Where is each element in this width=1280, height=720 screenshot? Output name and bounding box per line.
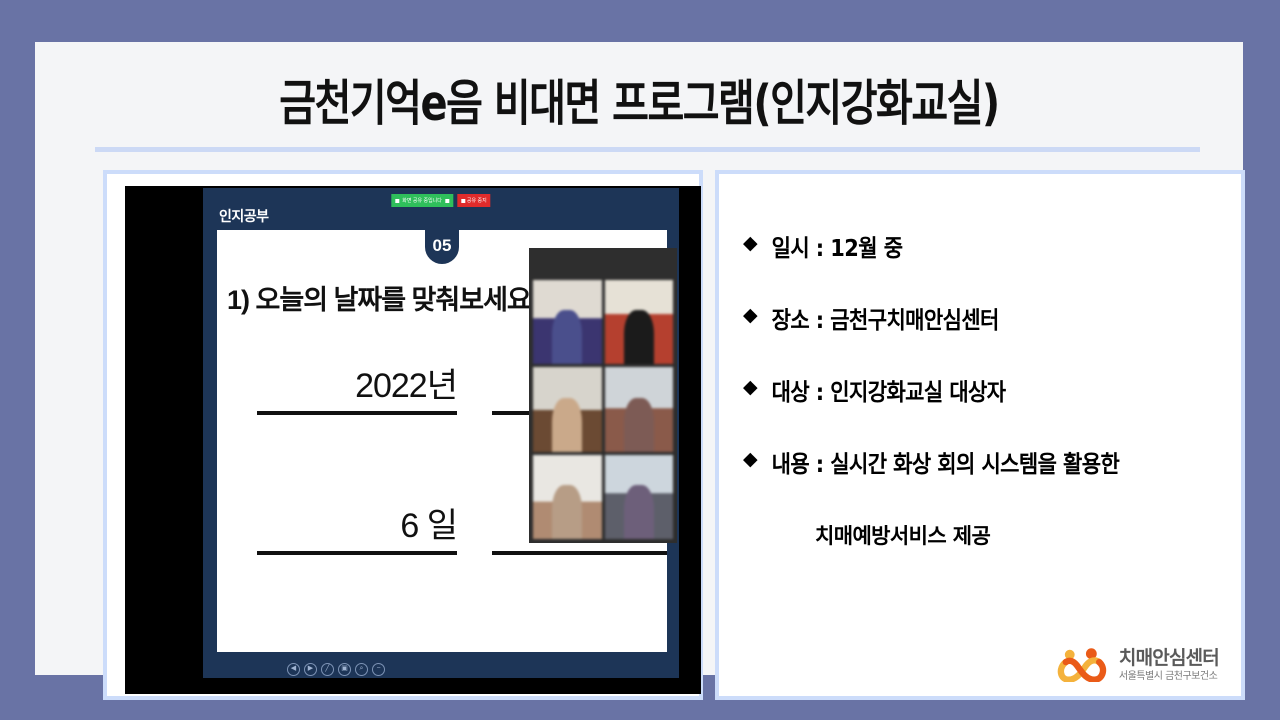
blank-year-unit: 년 xyxy=(427,367,457,405)
bullet-text-target: 대상 : 인지강화교실 대상자 xyxy=(772,374,1006,408)
participant-video-tile xyxy=(533,455,602,539)
slide-icon[interactable]: ▣ xyxy=(338,663,351,676)
blank-year: 2022년 xyxy=(257,358,457,415)
slide-toolbar[interactable]: ◀ ▶ ╱ ▣ ⌕ − xyxy=(287,663,385,676)
diamond-bullet-icon: ◆ xyxy=(743,450,758,469)
share-status-chip: 화면 공유 중입니다 xyxy=(391,194,453,207)
blank-day-value: 6 xyxy=(400,507,418,545)
minus-icon[interactable]: − xyxy=(372,663,385,676)
slide-label: 인지공부 xyxy=(219,206,269,226)
bullet-text-continuation: 치매예방서비스 제공 xyxy=(815,524,990,548)
diamond-bullet-icon: ◆ xyxy=(743,306,758,325)
zoom-icon[interactable]: ⌕ xyxy=(355,663,368,676)
participant-video-tile xyxy=(605,455,674,539)
diamond-bullet-icon: ◆ xyxy=(743,378,758,397)
logo-text-block: 치매안심센터 서울특별시 금천구보건소 xyxy=(1119,649,1219,682)
presentation-slide: 금천기억e음 비대면 프로그램(인지강화교실) 인지공부 05 1) 오늘의 날… xyxy=(0,0,1280,720)
stop-icon xyxy=(461,199,465,203)
bullet-text-place: 장소 : 금천구치매안심센터 xyxy=(772,302,999,336)
blank-day: 6 일 xyxy=(257,498,457,555)
stop-share-button[interactable]: 공유 중지 xyxy=(457,194,491,207)
prev-icon[interactable]: ◀ xyxy=(287,663,300,676)
stop-share-label: 공유 중지 xyxy=(467,197,487,204)
participant-thumbnail-grid xyxy=(529,248,677,543)
bullet-list: ◆ 일시 : 12월 중 ◆ 장소 : 금천구치매안심센터 ◆ 대상 : 인지강… xyxy=(743,232,1227,550)
page-title: 금천기억e음 비대면 프로그램(인지강화교실) xyxy=(35,64,1243,135)
bullet-item-target: ◆ 대상 : 인지강화교실 대상자 xyxy=(743,376,1227,406)
participant-video-tile xyxy=(605,280,674,364)
pen-icon[interactable]: ╱ xyxy=(321,663,334,676)
microphone-icon xyxy=(395,199,399,203)
zoom-video-capture: 인지공부 05 1) 오늘의 날짜를 맞춰보세요 2022년 12월 xyxy=(125,186,701,694)
content-card: 금천기억e음 비대면 프로그램(인지강화교실) 인지공부 05 1) 오늘의 날… xyxy=(35,42,1243,675)
pause-icon xyxy=(445,199,449,203)
blank-year-value: 2022 xyxy=(355,367,427,405)
next-icon[interactable]: ▶ xyxy=(304,663,317,676)
bullet-item-date: ◆ 일시 : 12월 중 xyxy=(743,232,1227,262)
share-status-text: 화면 공유 중입니다 xyxy=(402,197,442,204)
screenshot-panel: 인지공부 05 1) 오늘의 날짜를 맞춰보세요 2022년 12월 xyxy=(103,170,703,700)
screen-share-bar: 화면 공유 중입니다 공유 중지 xyxy=(391,194,490,207)
slide-number-badge: 05 xyxy=(425,230,459,264)
center-logo: 치매안심센터 서울특별시 금천구보건소 xyxy=(1056,648,1219,682)
bullet-item-content: ◆ 내용 : 실시간 화상 회의 시스템을 활용한 xyxy=(743,448,1227,478)
dementia-center-logo-icon xyxy=(1056,648,1110,682)
participant-video-tile xyxy=(533,280,602,364)
logo-subtitle: 서울특별시 금천구보건소 xyxy=(1119,672,1219,682)
bullet-item-place: ◆ 장소 : 금천구치매안심센터 xyxy=(743,304,1227,334)
participant-video-tile xyxy=(533,367,602,451)
bullet-text-date: 일시 : 12월 중 xyxy=(772,230,903,264)
details-panel: ◆ 일시 : 12월 중 ◆ 장소 : 금천구치매안심센터 ◆ 대상 : 인지강… xyxy=(715,170,1245,700)
bullet-text-content: 내용 : 실시간 화상 회의 시스템을 활용한 xyxy=(772,446,1120,480)
title-divider xyxy=(95,147,1200,152)
bullet-item-content-continuation: 치매예방서비스 제공 xyxy=(743,520,1227,550)
participant-video-tile xyxy=(605,367,674,451)
diamond-bullet-icon: ◆ xyxy=(743,234,758,253)
blank-day-unit: 일 xyxy=(427,507,457,545)
logo-title: 치매안심센터 xyxy=(1119,649,1219,668)
